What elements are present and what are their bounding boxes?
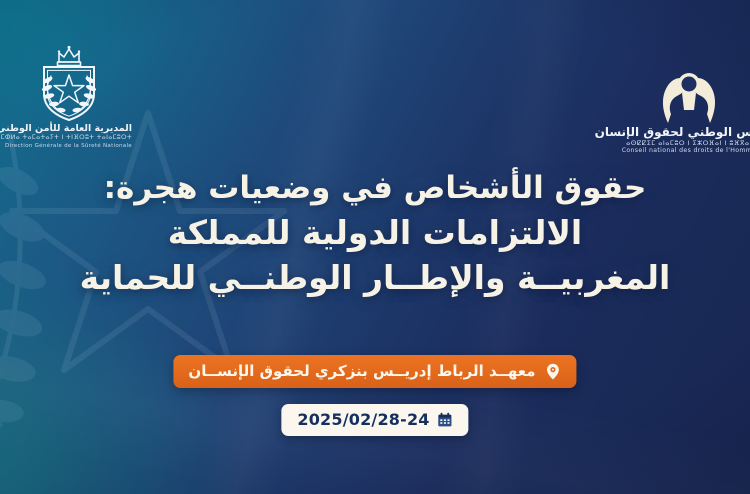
cndh-logo: المجلس الوطني لحقوق الإنسان ⴰⵙⵇⵇⵉⵎ ⴰⵏⴰⵎⵓ… xyxy=(594,66,750,166)
cndh-figures-icon xyxy=(651,66,727,124)
dgsn-logo: المديرية العامة للأمن الوطني ⵜⴰⵎⵀⵍⴰ ⵜⴰⵎⴰ… xyxy=(14,44,132,159)
cndh-caption-arabic: المجلس الوطني لحقوق الإنسان xyxy=(594,126,750,139)
event-banner: المديرية العامة للأمن الوطني ⵜⴰⵎⵀⵍⴰ ⵜⴰⵎⴰ… xyxy=(0,0,750,494)
cndh-logo-caption: المجلس الوطني لحقوق الإنسان ⴰⵙⵇⵇⵉⵎ ⴰⵏⴰⵎⵓ… xyxy=(594,126,750,155)
dgsn-logo-caption: المديرية العامة للأمن الوطني ⵜⴰⵎⵀⵍⴰ ⵜⴰⵎⴰ… xyxy=(14,124,132,149)
title-line-1: حقوق الأشخاص في وضعيات هجرة: xyxy=(0,168,750,210)
venue-badge-label: معهــد الرباط إدريــس بنزكري لحقوق الإنس… xyxy=(188,362,535,380)
dgsn-caption-arabic: المديرية العامة للأمن الوطني xyxy=(14,124,132,134)
date-badge-label: 2025/02/28-24 xyxy=(297,410,429,429)
dgsn-caption-french: Direction Générale de la Sûreté National… xyxy=(14,143,132,149)
title-line-3: المغربيــة والإطــار الوطنــي للحماية xyxy=(0,255,750,301)
location-pin-icon xyxy=(545,363,562,380)
event-title: حقوق الأشخاص في وضعيات هجرة: الالتزامات … xyxy=(0,168,750,301)
title-line-2: الالتزامات الدولية للمملكة xyxy=(0,210,750,256)
date-badge: 2025/02/28-24 xyxy=(281,404,468,436)
venue-badge: معهــد الرباط إدريــس بنزكري لحقوق الإنس… xyxy=(173,355,576,388)
dgsn-caption-tifinagh: ⵜⴰⵎⵀⵍⴰ ⵜⴰⵎⴰⵜⴰⵢⵜ ⵏ ⵜⵏⴼⵔⵓⵜ ⵜⴰⵏⴰⵎⵓⵔⵜ xyxy=(14,135,132,142)
cndh-caption-french: Conseil national des droits de l'Homme xyxy=(594,148,750,155)
calendar-icon xyxy=(438,412,453,427)
crowned-shield-icon xyxy=(14,44,132,122)
cndh-caption-tifinagh: ⴰⵙⵇⵇⵉⵎ ⴰⵏⴰⵎⵓⵔ ⵏ ⵉⵣⵔⴼⴰⵏ ⵏ ⵓⴼⴳⴰⵏ xyxy=(594,140,750,147)
